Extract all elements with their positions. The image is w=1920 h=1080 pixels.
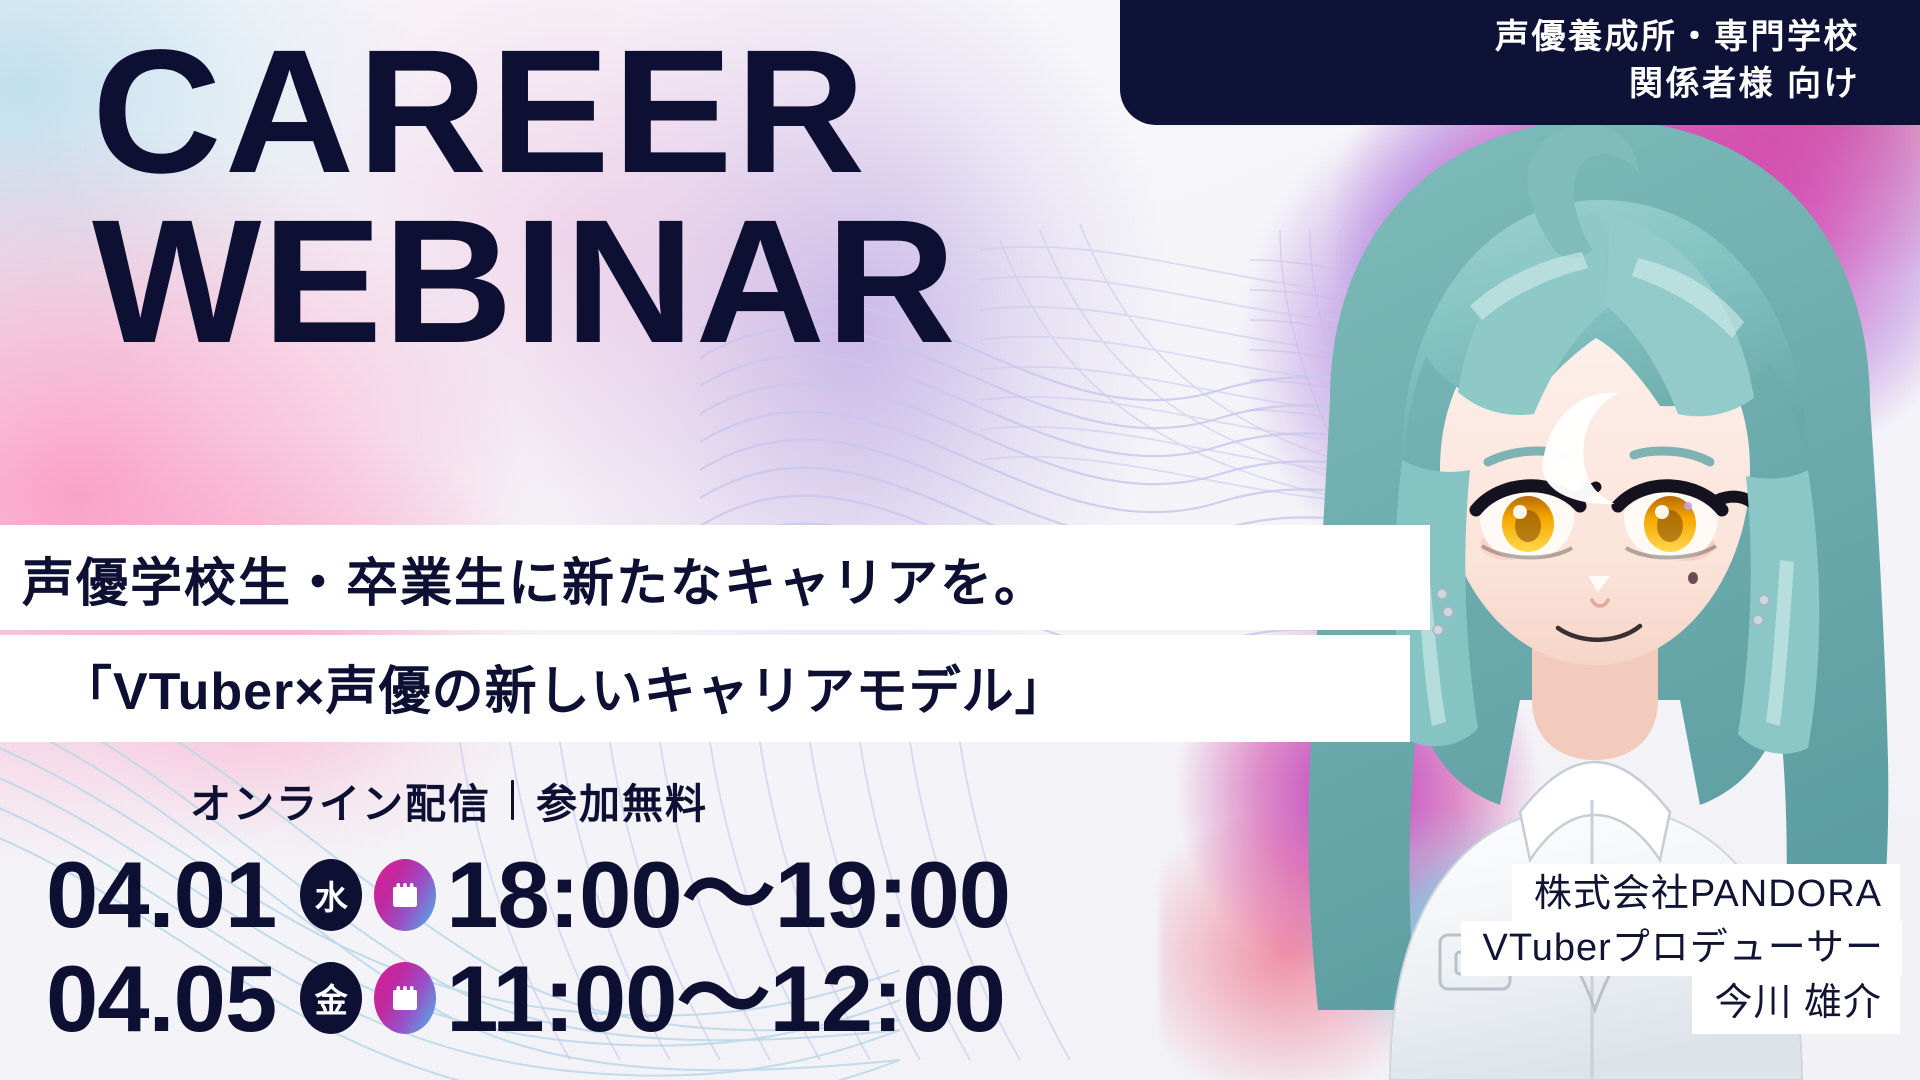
calendar-icon <box>374 962 436 1034</box>
session-time: 11:00～12:00 <box>446 948 1005 1050</box>
schedule-row: 04.05 金 11:00～12:00 <box>46 948 1010 1050</box>
title-line-webinar: WEBINAR <box>92 198 957 368</box>
calendar-icon <box>374 859 436 931</box>
credit-name: 今川 雄介 <box>1692 976 1900 1034</box>
badge-line-2: 関係者様 向け <box>1629 61 1860 108</box>
weekday-badge: 水 <box>300 859 362 931</box>
page-title: CAREER WEBINAR <box>92 28 940 368</box>
title-line-career: CAREER <box>92 28 957 198</box>
headline-line-1: 声優学校生・卒業生に新たなキャリアを。 <box>0 525 1430 630</box>
price-label: 参加無料 <box>536 770 708 830</box>
credit-role: VTuberプロデューサー <box>1461 921 1902 975</box>
session-date: 04.05 <box>46 948 276 1050</box>
headline-line-2: 「VTuber×声優の新しいキャリアモデル」 <box>0 635 1410 742</box>
schedule-section: オンライン配信 参加無料 04.01 水 18:00～19:00 04.05 金 <box>0 770 1010 1051</box>
schedule-meta: オンライン配信 参加無料 <box>190 770 1010 830</box>
session-time: 18:00～19:00 <box>446 844 1010 946</box>
weekday-badge: 金 <box>300 962 362 1034</box>
badge-line-1: 声優養成所・専門学校 <box>1495 14 1860 61</box>
headline: 声優学校生・卒業生に新たなキャリアを。 「VTuber×声優の新しいキャリアモデ… <box>0 525 1430 742</box>
target-audience-badge: 声優養成所・専門学校 関係者様 向け <box>1120 0 1920 125</box>
meta-separator <box>511 780 514 820</box>
credit-company: 株式会社PANDORA <box>1512 864 1900 921</box>
delivery-format-label: オンライン配信 <box>190 770 491 830</box>
session-date: 04.01 <box>46 844 276 946</box>
presenter-credit: 株式会社PANDORA VTuberプロデューサー 今川 雄介 <box>1461 864 1900 1034</box>
schedule-row: 04.01 水 18:00～19:00 <box>46 844 1010 946</box>
webinar-poster: 声優養成所・専門学校 関係者様 向け CAREER WEBINAR 声優学校生・… <box>0 0 1920 1080</box>
